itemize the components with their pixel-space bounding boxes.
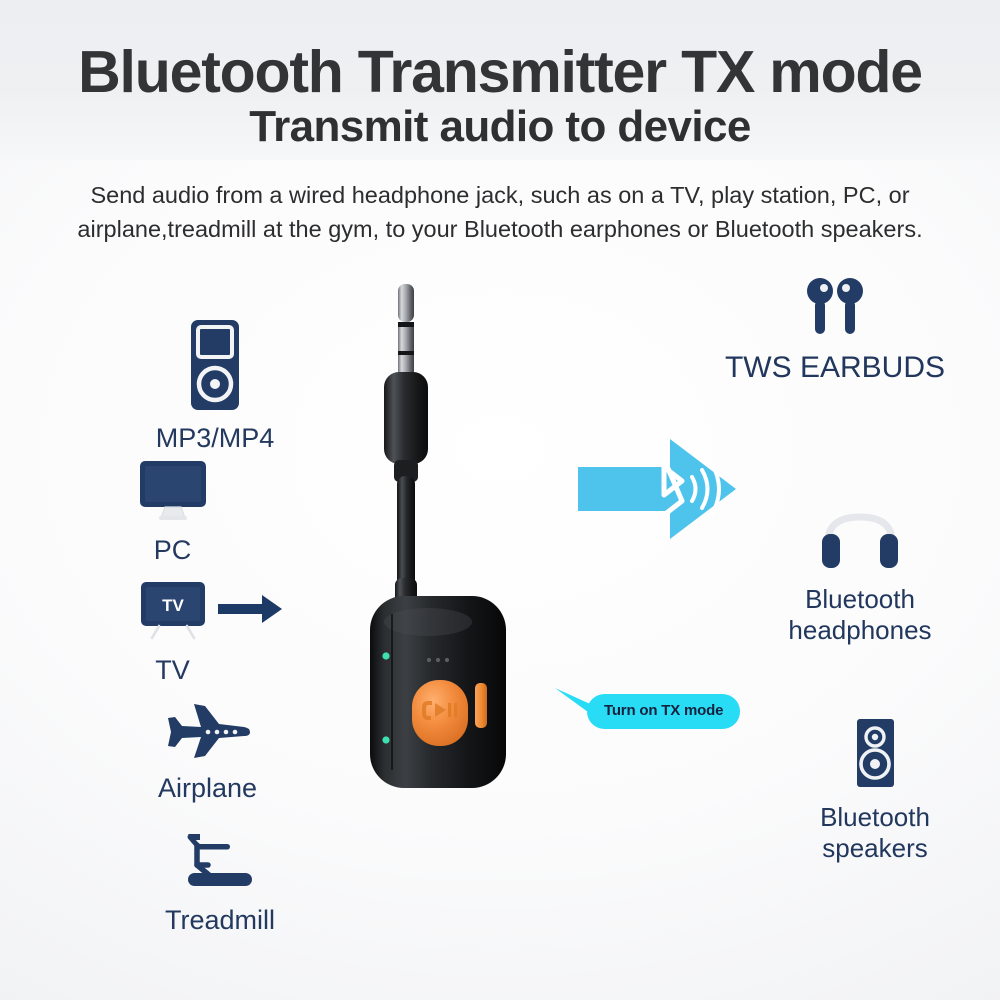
tx-rx-mode-switch: [475, 683, 487, 728]
speaker-icon: [849, 718, 901, 790]
source-treadmill: Treadmill: [100, 832, 340, 936]
tv-icon: TV: [135, 580, 211, 642]
source-pc: PC: [100, 458, 245, 566]
source-treadmill-label: Treadmill: [100, 904, 340, 936]
tv-to-device-arrow: [218, 592, 284, 626]
source-mp3-label: MP3/MP4: [100, 422, 330, 454]
source-tv-label: TV: [100, 654, 245, 686]
mp3-player-icon: [187, 318, 243, 412]
led-indicator-top: [382, 652, 389, 659]
destination-bt-headphones-label-2: headphones: [735, 615, 985, 646]
source-pc-label: PC: [100, 534, 245, 566]
destination-bt-headphones-label-1: Bluetooth: [735, 584, 985, 615]
destination-tws-earbuds: TWS EARBUDS: [700, 276, 970, 383]
headphones-icon: [818, 508, 902, 572]
infographic-page: Bluetooth Transmitter TX mode Transmit a…: [0, 0, 1000, 1000]
led-indicator-bottom: [382, 736, 389, 743]
bluetooth-transmit-arrow: [578, 437, 738, 542]
monitor-icon: [135, 458, 211, 522]
earbuds-icon: [803, 276, 867, 338]
source-airplane-label: Airplane: [100, 772, 315, 804]
source-airplane: Airplane: [100, 700, 315, 804]
destination-bt-speakers: Bluetooth speakers: [760, 718, 990, 864]
tv-screen-text: TV: [162, 596, 184, 615]
jack-barrel: [384, 372, 428, 464]
page-subtitle: Transmit audio to device: [0, 104, 1000, 150]
treadmill-icon: [178, 832, 262, 894]
page-description: Send audio from a wired headphone jack, …: [60, 178, 940, 246]
destination-bt-speakers-label-1: Bluetooth: [760, 802, 990, 833]
destination-bt-speakers-label-2: speakers: [760, 833, 990, 864]
page-title: Bluetooth Transmitter TX mode: [0, 42, 1000, 102]
destination-bt-headphones: Bluetooth headphones: [735, 508, 985, 646]
callout-bubble: Turn on TX mode: [587, 694, 740, 729]
destination-tws-label: TWS EARBUDS: [700, 352, 970, 383]
jack-tip: [398, 284, 414, 322]
source-mp3: MP3/MP4: [100, 318, 330, 454]
airplane-icon: [164, 700, 252, 762]
